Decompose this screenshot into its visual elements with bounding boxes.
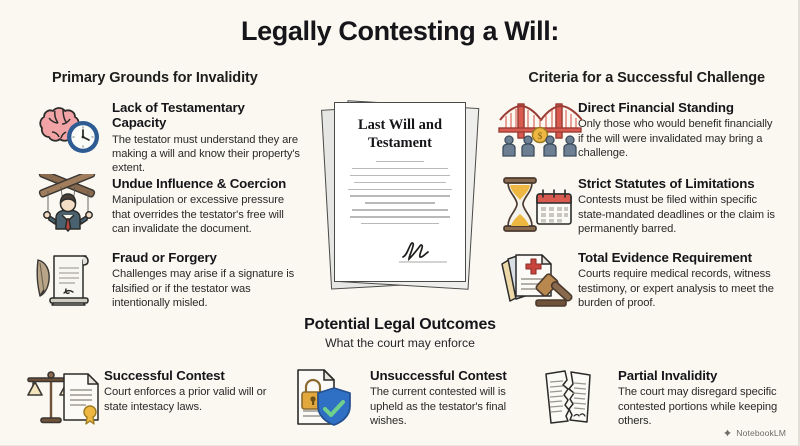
quill-scroll-icon: [32, 248, 104, 310]
document-front-sheet: Last Will and Testament: [334, 102, 466, 282]
item-title: Partial Invalidity: [618, 368, 796, 383]
item-description: Courts require medical records, witness …: [578, 267, 780, 310]
list-item-financial-standing: $ Direct Financial Standing Only those w…: [498, 98, 780, 160]
list-item-evidence-requirement: Total Evidence Requirement Courts requir…: [498, 248, 780, 310]
item-title: Total Evidence Requirement: [578, 250, 780, 265]
item-description: The court may disregard specific contest…: [618, 385, 796, 428]
brain-clock-icon: [32, 98, 104, 160]
list-item-fraud-forgery: Fraud or Forgery Challenges may arise if…: [32, 248, 300, 310]
signature-mark: [397, 237, 451, 265]
item-title: Lack of Testamentary Capacity: [112, 100, 300, 131]
list-item-unsuccessful-contest: Unsuccessful Contest The current contest…: [290, 366, 540, 428]
outcomes-heading: Potential Legal Outcomes: [0, 316, 800, 334]
item-description: The testator must understand they are ma…: [112, 133, 300, 176]
document-title-line-2: Testament: [368, 135, 432, 151]
item-title: Direct Financial Standing: [578, 100, 780, 115]
marionette-puppet-icon: [32, 174, 104, 236]
item-description: Challenges may arise if a signature is f…: [112, 267, 300, 310]
medical-records-gavel-icon: [498, 248, 570, 310]
scales-document-seal-icon: [24, 366, 96, 428]
svg-text:$: $: [538, 131, 543, 141]
item-title: Unsuccessful Contest: [370, 368, 540, 383]
list-item-lack-of-capacity: Lack of Testamentary Capacity The testat…: [32, 98, 300, 176]
item-title: Successful Contest: [104, 368, 292, 383]
hourglass-calendar-icon: [498, 174, 570, 236]
document-body-lines: [335, 161, 465, 230]
item-description: Contests must be filed within specific s…: [578, 193, 780, 236]
page-title: Legally Contesting a Will:: [0, 16, 800, 47]
outcomes-section-header: Potential Legal Outcomes What the court …: [0, 316, 800, 350]
infographic-poster: Legally Contesting a Will: Primary Groun…: [0, 0, 800, 446]
item-title: Strict Statutes of Limitations: [578, 176, 780, 191]
document-title: Last Will and Testament: [335, 117, 465, 152]
list-item-partial-invalidity: Partial Invalidity The court may disrega…: [538, 366, 796, 428]
list-item-statutes-of-limitations: Strict Statutes of Limitations Contests …: [498, 174, 780, 236]
list-item-successful-contest: Successful Contest Court enforces a prio…: [24, 366, 292, 428]
outcomes-subheading: What the court may enforce: [0, 336, 800, 350]
item-title: Fraud or Forgery: [112, 250, 300, 265]
section-heading-criteria: Criteria for a Successful Challenge: [528, 70, 765, 86]
will-document-stack-icon: Last Will and Testament: [326, 100, 476, 292]
item-description: The current contested will is upheld as …: [370, 385, 540, 428]
watermark-label: NotebookLM: [736, 428, 786, 438]
watermark: NotebookLM: [723, 428, 786, 438]
list-item-undue-influence: Undue Influence & Coercion Manipulation …: [32, 174, 300, 236]
item-title: Undue Influence & Coercion: [112, 176, 300, 191]
item-description: Manipulation or excessive pressure that …: [112, 193, 300, 236]
bridge-coin-people-icon: $: [498, 98, 570, 160]
item-description: Only those who would benefit financially…: [578, 117, 780, 160]
notebooklm-logo-icon: [723, 429, 732, 438]
item-description: Court enforces a prior valid will or sta…: [104, 385, 292, 414]
torn-document-icon: [538, 366, 610, 428]
section-heading-grounds: Primary Grounds for Invalidity: [52, 70, 258, 86]
document-title-line-1: Last Will and: [358, 117, 442, 133]
lock-shield-check-icon: [290, 366, 362, 428]
